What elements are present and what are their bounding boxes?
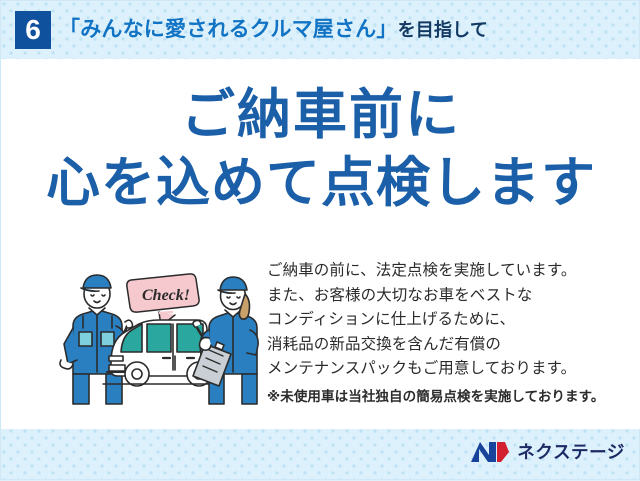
speech-bubble-label: Check! (142, 287, 190, 304)
header-headline: 「みんなに愛されるクルマ屋さん」を目指して (59, 14, 488, 46)
brand-logo: ネクステージ (470, 438, 625, 466)
description-note: ※未使用車は当社独自の簡易点検を実施しております。 (267, 382, 627, 409)
description-line: ご納車の前に、法定点検を実施しています。 (267, 259, 627, 284)
description-block: ご納車の前に、法定点検を実施しています。 また、お客様の大切なお車をベストな コ… (267, 259, 627, 409)
section-number-badge: 6 (15, 11, 51, 49)
page-title-line-1: ご納車前に (1, 81, 640, 149)
description-line: メンテナンスパックもご用意しております。 (267, 357, 627, 382)
description-line: コンディションに仕上げるために、 (267, 308, 627, 333)
page-title: ご納車前に 心を込めて点検します (1, 81, 640, 217)
nextage-n-logo-icon (470, 440, 510, 464)
mechanics-illustration: Check! (59, 264, 269, 409)
content-panel: ご納車前に 心を込めて点検します ご納車の前に、法定点検を実施しています。 また… (1, 59, 640, 429)
description-line: また、お客様の大切なお車をベストな (267, 284, 627, 309)
page-title-line-2: 心を込めて点検します (1, 149, 640, 217)
description-line: 消耗品の新品交換を含んだ有償の (267, 333, 627, 358)
header: 6 「みんなに愛されるクルマ屋さん」を目指して (1, 1, 640, 59)
headline-quoted-text: 「みんなに愛されるクルマ屋さん」 (59, 18, 398, 41)
brand-name-label: ネクステージ (517, 438, 625, 466)
footer: ネクステージ (1, 429, 640, 481)
promo-banner: 6 「みんなに愛されるクルマ屋さん」を目指して ご納車前に 心を込めて点検します… (0, 0, 640, 480)
headline-tail-text: を目指して (398, 20, 488, 40)
